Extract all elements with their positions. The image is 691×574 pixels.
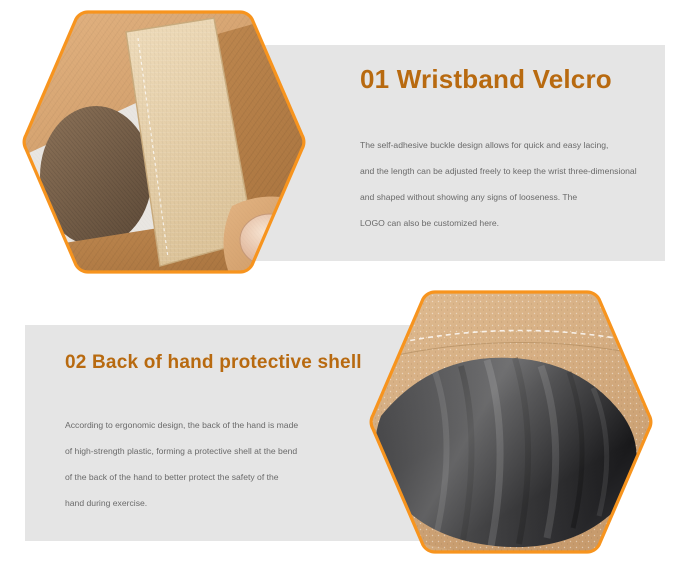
product-feature-page: 01 Wristband Velcro The self-adhesive bu… (0, 0, 691, 574)
section-02-heading: 02 Back of hand protective shell (65, 352, 362, 374)
body-line: According to ergonomic design, the back … (65, 412, 355, 438)
body-line: and shaped without showing any signs of … (360, 184, 650, 210)
body-line: LOGO can also be customized here. (360, 210, 650, 236)
section-01-hexagon-image (18, 8, 310, 284)
body-line: of the back of the hand to better protec… (65, 464, 355, 490)
section-02-hexagon-image (365, 288, 657, 564)
protective-shell-photo-icon (365, 288, 657, 564)
body-line: of high-strength plastic, forming a prot… (65, 438, 355, 464)
section-01-heading: 01 Wristband Velcro (360, 64, 612, 95)
body-line: and the length can be adjusted freely to… (360, 158, 650, 184)
wristband-velcro-photo-icon (18, 8, 310, 284)
section-01-body: The self-adhesive buckle design allows f… (360, 132, 650, 236)
section-02-body: According to ergonomic design, the back … (65, 412, 355, 516)
body-line: The self-adhesive buckle design allows f… (360, 132, 650, 158)
body-line: hand during exercise. (65, 490, 355, 516)
